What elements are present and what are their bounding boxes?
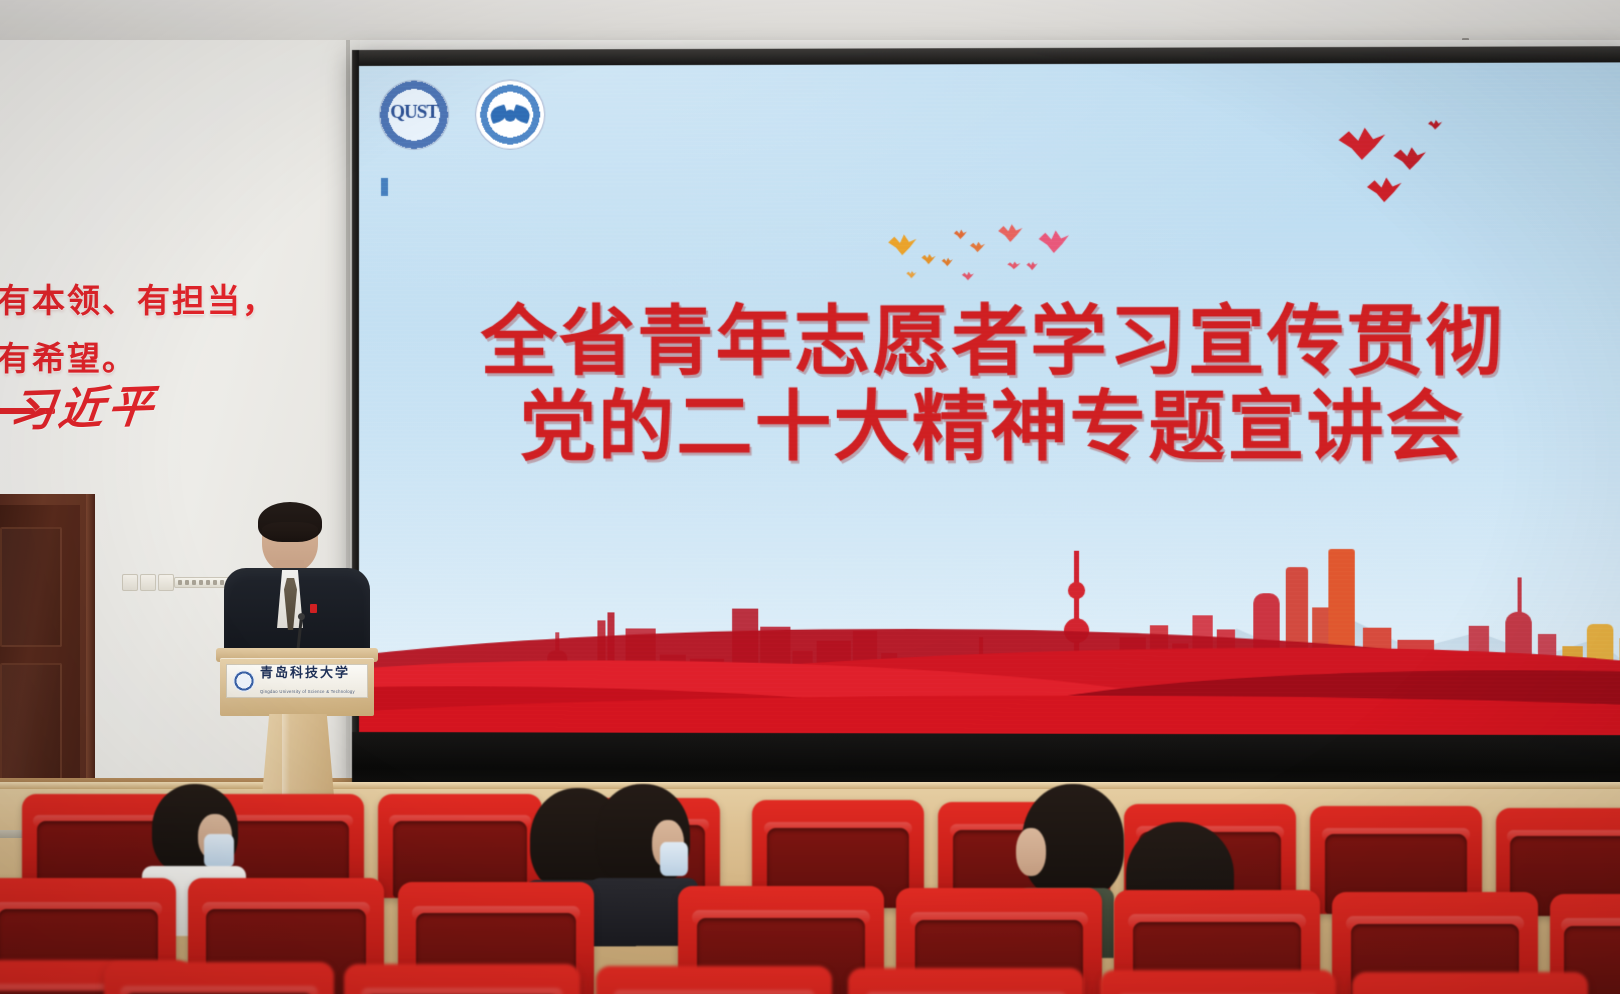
podium-plate-english: Qingdao University of Science & Technolo…: [260, 689, 355, 694]
speaker-hair: [258, 502, 322, 542]
seat[interactable]: [104, 962, 334, 994]
light-switch[interactable]: [158, 574, 174, 591]
face-mask-icon: [204, 834, 234, 868]
bird-icon: [962, 271, 974, 280]
wall-quote-attribution: 习近平: [6, 369, 161, 439]
bird-icon: [954, 229, 967, 239]
bird-icon: [1339, 126, 1386, 160]
qust-logo-mark: QUST: [390, 102, 438, 124]
outlet-port: [199, 580, 203, 585]
headline-line-1: 全省青年志愿者学习宣传贯彻: [359, 298, 1620, 384]
bird-icon: [921, 253, 935, 264]
red-hills: [359, 532, 1620, 735]
bird-icon: [1026, 261, 1037, 270]
bird-icon: [998, 223, 1022, 242]
podium-nameplate: 青岛科技大学 Qingdao University of Science & T…: [226, 664, 368, 698]
bird-icon: [1007, 261, 1020, 269]
attendee-mid-center: [596, 784, 690, 888]
audience-seating: [0, 760, 1620, 994]
cityscape-graphic: [359, 502, 1620, 735]
attendee-mid-right: [1022, 784, 1124, 900]
bird-icon: [1393, 146, 1426, 170]
light-switch[interactable]: [122, 574, 138, 591]
seat[interactable]: [344, 964, 580, 994]
bird-icon: [1039, 229, 1069, 253]
attendee-front-left: [152, 784, 238, 876]
qust-university-logo: QUST: [379, 80, 449, 150]
bird-icon: [1428, 119, 1442, 129]
screen-content: QUST: [359, 62, 1620, 735]
seat[interactable]: [1352, 972, 1588, 994]
door-panel-upper: [0, 527, 62, 647]
qust-seal-icon: [233, 670, 255, 692]
outlet-port: [192, 580, 196, 585]
seat[interactable]: [596, 966, 832, 994]
bird-icon: [888, 233, 916, 255]
door[interactable]: [0, 505, 80, 800]
bird-icon: [942, 257, 953, 266]
screen-headline: 全省青年志愿者学习宣传贯彻 党的二十大精神专题宣讲会: [359, 298, 1620, 470]
lapel-pin-icon: [310, 604, 317, 613]
outlet-port: [178, 580, 182, 585]
person-face: [1016, 828, 1046, 876]
seat[interactable]: [1100, 970, 1336, 994]
headline-line-2: 党的二十大精神专题宣讲会: [359, 384, 1620, 470]
volunteer-association-logo: [475, 79, 545, 149]
outlet-port: [185, 580, 189, 585]
screen-logo-row: QUST: [379, 79, 545, 149]
wall-light-switches[interactable]: [122, 574, 174, 591]
podium-plate-chinese: 青岛科技大学: [260, 665, 350, 680]
door-jamb: [86, 494, 95, 804]
bird-icon: [1367, 176, 1402, 202]
seat[interactable]: [848, 968, 1084, 994]
light-switch[interactable]: [140, 574, 156, 591]
logo-core-icon: [504, 110, 516, 122]
bird-icon: [970, 241, 985, 252]
conference-hall-photo: 、有本领、有担当， 就有希望。 习近平 QUST: [0, 0, 1620, 994]
wall-quote-line-1: 、有本领、有担当，: [0, 272, 312, 330]
screen-accent-tick: [381, 178, 388, 196]
bird-icon: [906, 270, 916, 278]
led-display-screen: QUST: [352, 46, 1620, 796]
face-mask-icon: [660, 842, 688, 876]
